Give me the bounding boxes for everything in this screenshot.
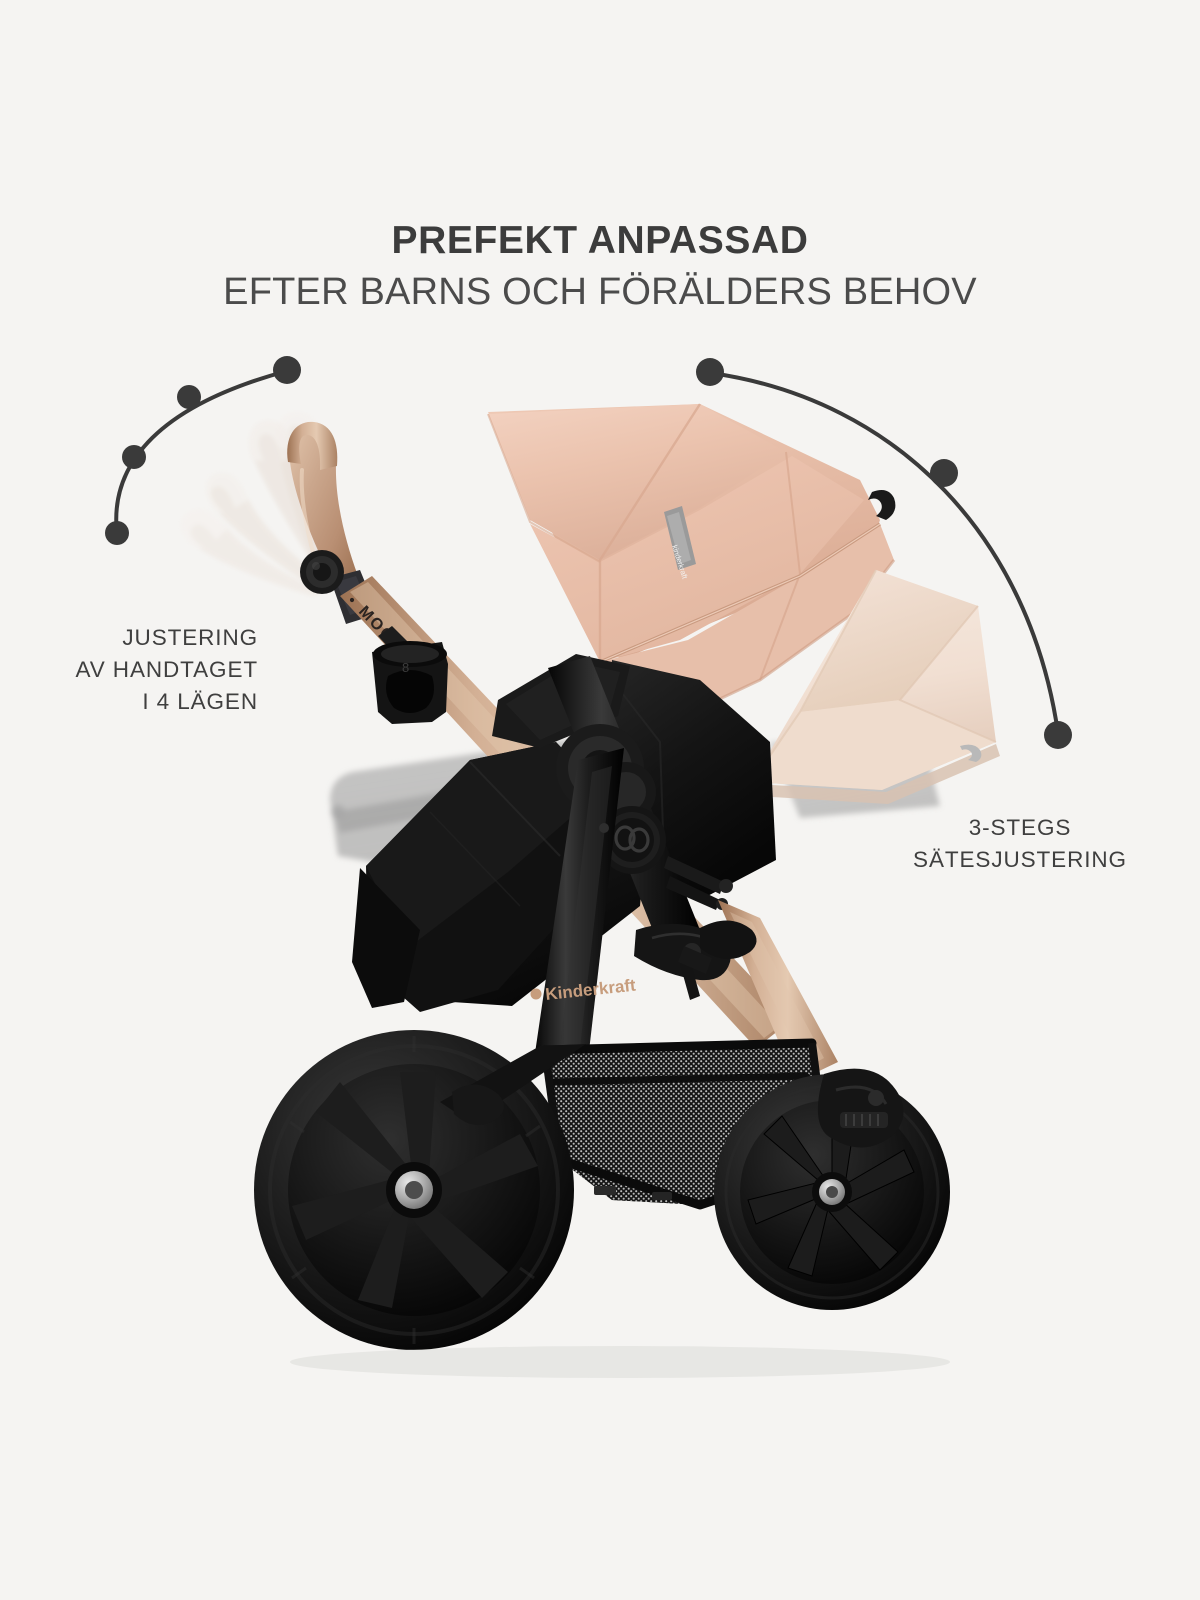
right-arc-dot-2	[930, 459, 958, 487]
caption-seat-adjustment: 3-STEGS SÄTESJUSTERING	[880, 812, 1160, 876]
left-arc-dot-4	[105, 521, 129, 545]
rear-axle-housing	[818, 1069, 904, 1148]
caption-left-line-1: JUSTERING	[0, 622, 258, 654]
right-arc-dot-3	[1044, 721, 1072, 749]
stroller-illustration: MOOV 8	[0, 0, 1200, 1600]
caption-right-line-1: 3-STEGS	[880, 812, 1160, 844]
caption-handle-adjustment: JUSTERING AV HANDTAGET I 4 LÄGEN	[0, 622, 258, 718]
caption-left-line-2: AV HANDTAGET	[0, 654, 258, 686]
caption-right-line-2: SÄTESJUSTERING	[880, 844, 1160, 876]
handle-pivot-hub	[300, 550, 344, 594]
left-arc-dot-3	[122, 445, 146, 469]
left-arc-dot-1	[273, 356, 301, 384]
svg-text:8: 8	[402, 660, 409, 675]
right-arc-dot-1	[696, 358, 724, 386]
left-arc-dot-2	[177, 385, 201, 409]
product-feature-graphic: MOOV 8	[0, 0, 1200, 1600]
caption-left-line-3: I 4 LÄGEN	[0, 686, 258, 718]
